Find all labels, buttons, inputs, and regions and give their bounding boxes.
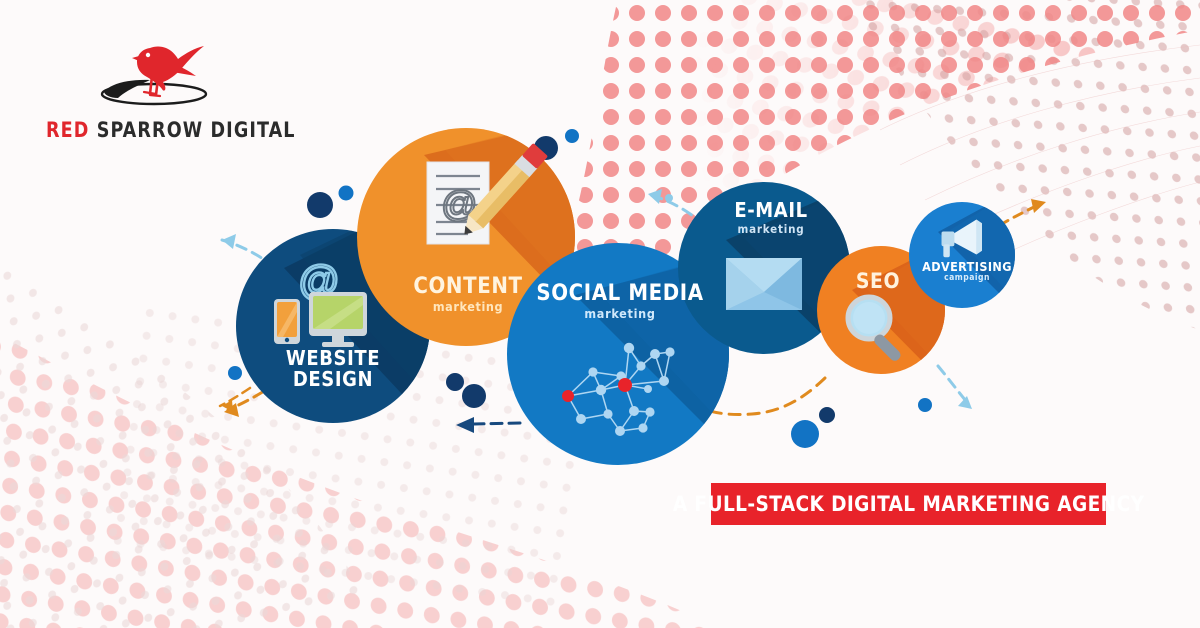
envelope-icon: [726, 258, 802, 310]
brand-name-red: RED: [46, 118, 89, 142]
tagline-banner: A FULL-STACK DIGITAL MARKETING AGENCY: [711, 483, 1106, 525]
sparrow-bird-icon: [92, 32, 232, 112]
brand-name-dark: SPARROW DIGITAL: [97, 118, 296, 142]
tagline-text: A FULL-STACK DIGITAL MARKETING AGENCY: [673, 492, 1145, 517]
smartphone-icon: [274, 299, 300, 344]
banner-canvas: @: [0, 0, 1200, 628]
brand-logo[interactable]: RED SPARROW DIGITAL: [46, 32, 296, 147]
brand-wordmark: RED SPARROW DIGITAL: [46, 118, 296, 142]
